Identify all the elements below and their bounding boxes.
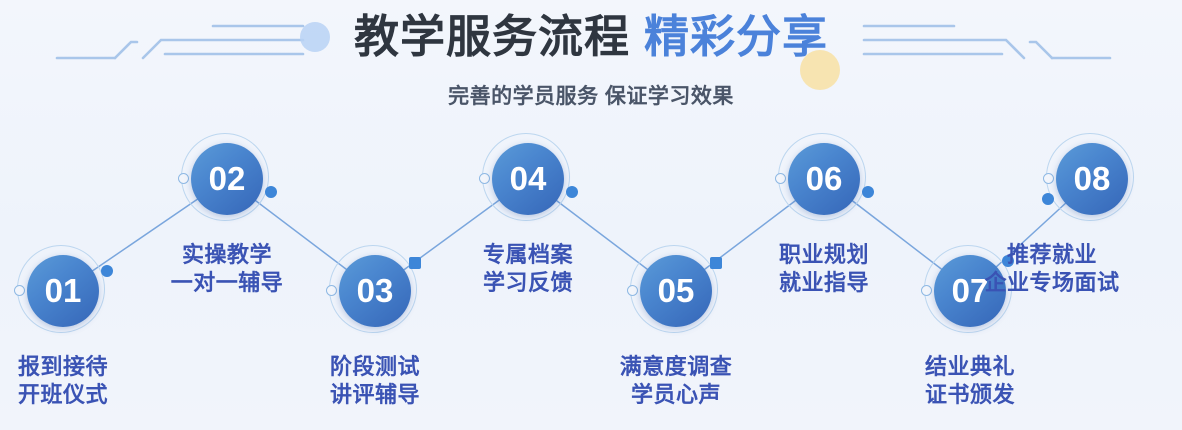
title-main-text: 教学服务流程 (354, 11, 630, 62)
node-link-dot-icon (1042, 193, 1054, 205)
node-circle-04: 04 (480, 131, 576, 227)
node-link-dot-icon (862, 186, 874, 198)
page-subtitle: 完善的学员服务 保证学习效果 (0, 80, 1182, 110)
node-number-06: 06 (788, 143, 860, 215)
node-hollow-dot-icon (1043, 173, 1054, 184)
node-number-04: 04 (492, 143, 564, 215)
header: 教学服务流程精彩分享 完善的学员服务 保证学习效果 (0, 0, 1182, 120)
node-hollow-dot-icon (326, 285, 337, 296)
node-label-line2: 开班仪式 (0, 381, 213, 409)
node-label-line2: 企业专场面试 (902, 269, 1182, 297)
node-circle-02: 02 (179, 131, 275, 227)
node-circle-08: 08 (1044, 131, 1140, 227)
node-hollow-dot-icon (627, 285, 638, 296)
node-label-line1: 阶段测试 (225, 353, 525, 381)
node-number-02: 02 (191, 143, 263, 215)
process-flow: 01 报到接待 开班仪式 02 实操教学 一对一辅导 (0, 120, 1182, 430)
node-label-line1: 满意度调查 (526, 353, 826, 381)
node-hollow-dot-icon (479, 173, 490, 184)
node-hollow-dot-icon (14, 285, 25, 296)
node-hollow-dot-icon (775, 173, 786, 184)
node-label-line1: 报到接待 (0, 353, 213, 381)
node-number-08: 08 (1056, 143, 1128, 215)
infographic-canvas: 教学服务流程精彩分享 完善的学员服务 保证学习效果 01 (0, 0, 1182, 430)
node-label-line2: 证书颁发 (820, 381, 1120, 409)
node-hollow-dot-icon (178, 173, 189, 184)
node-label-line2: 讲评辅导 (225, 381, 525, 409)
node-label-05: 满意度调查 学员心声 (526, 353, 826, 409)
node-link-dot-icon (566, 186, 578, 198)
node-label-line2: 学员心声 (526, 381, 826, 409)
node-label-08: 推荐就业 企业专场面试 (902, 241, 1182, 297)
node-label-line1: 结业典礼 (820, 353, 1120, 381)
node-label-07: 结业典礼 证书颁发 (820, 353, 1120, 409)
node-label-01: 报到接待 开班仪式 (0, 353, 213, 409)
node-label-line1: 推荐就业 (902, 241, 1182, 269)
node-label-03: 阶段测试 讲评辅导 (225, 353, 525, 409)
page-title: 教学服务流程精彩分享 (0, 14, 1182, 59)
node-circle-06: 06 (776, 131, 872, 227)
title-accent-text: 精彩分享 (644, 11, 828, 62)
node-link-dot-icon (265, 186, 277, 198)
